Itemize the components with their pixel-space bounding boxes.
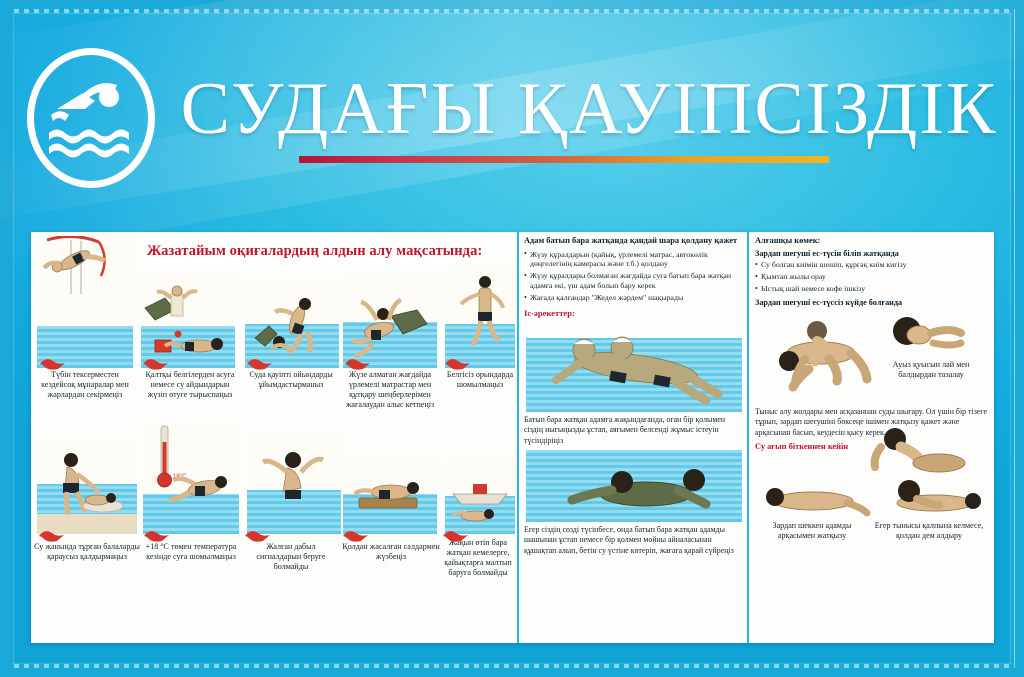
list-item: Қымтап жылы орау [755, 272, 987, 282]
swimmer-icon [27, 48, 155, 188]
first-aid-panel: Алғашқы көмек: Зардап шегуші ес-түсін бі… [749, 232, 992, 643]
prevention-image-3 [245, 280, 339, 368]
lay-on-back-icon [755, 477, 871, 517]
prevention-image-2 [141, 274, 235, 368]
prevention-image-6 [37, 440, 137, 534]
prevention-caption-2: Қалтқы белгілерден асуға немесе су айдын… [139, 369, 241, 400]
clean-mouth-icon [873, 309, 987, 359]
drowning-response-bullets: Жүзу құралдарын (қайық, үрлемелі матрас,… [524, 250, 742, 304]
rescue-approach-text: Батып бара жатқан адамға жақындағанда, о… [524, 415, 742, 446]
actions-label: Іс-әрекеттер: [524, 308, 742, 318]
prevention-image-4 [343, 274, 437, 368]
page-title: СУДАҒЫ ҚАУІПСІЗДІК [181, 72, 998, 146]
prevention-caption-5: Белгісіз орындарда шомылмаңыз [443, 369, 517, 390]
drowning-response-title: Адам батып бара жатқанда қандай шара қол… [524, 236, 742, 247]
arrow-icon [40, 357, 66, 371]
prevention-caption-3: Суда қауіпті ойындарды ұйымдастырманыз [241, 369, 341, 390]
prevention-panel: Жазатайым оқиғалардың алдын алу мақсатын… [31, 232, 519, 643]
prevention-caption-9: Қолдан жасалған салдармен жүзбеңіз [339, 541, 443, 562]
list-item: Жүзу құралдары болмаған жағдайда суға ба… [524, 271, 742, 290]
prevention-image-9 [343, 454, 437, 534]
arrow-icon [143, 357, 169, 371]
list-item: Жүзу құралдарын (қайық, үрлемелі матрас,… [524, 250, 742, 269]
arrow-icon [245, 529, 271, 543]
drowning-response-panel: Адам батып бара жатқанда қандай шара қол… [519, 232, 749, 643]
mouth-to-mouth-caption: Егер тынысы қалпына келмесе, қолдан дем … [871, 520, 987, 541]
arrow-icon [39, 529, 65, 543]
prevention-caption-6: Су жанында тұрған балаларды қараусыз қал… [33, 541, 141, 562]
arrow-icon [247, 357, 273, 371]
arrow-icon [144, 529, 170, 543]
lay-on-back-caption: Зардап шеккен адамды арқасымен жатқызу [755, 520, 869, 541]
prevention-caption-1: Түбін тексерместен кездейсоқ мұнаралар м… [33, 369, 137, 400]
arrow-icon [443, 529, 469, 543]
unconscious-subhead: Зардап шегуші ес-түссіз күйде болғанда [755, 298, 987, 307]
rescue-tow-icon [526, 450, 742, 522]
rescue-swim-assist-icon [526, 320, 742, 412]
prevention-caption-4: Жүзе алмаған жағдайда үрлемелі матрастар… [337, 369, 443, 409]
list-item: Жағада қалғандар "Жедел жәрдем" шақырады [524, 293, 742, 303]
arrow-icon [345, 357, 371, 371]
clean-mouth-caption: Ауыз қуысын лай мен балдырдан тазалау [877, 359, 985, 380]
list-item: Ыстық шай немесе кофе ішкізу [755, 284, 987, 294]
prevention-image-5 [445, 268, 515, 368]
prevention-image-8 [247, 432, 341, 534]
prevention-image-7: 18°C [143, 422, 239, 534]
prevention-caption-7: +18 °C төмен температура кезінде суға шо… [139, 541, 243, 562]
content-board: Жазатайым оқиғалардың алдын алу мақсатын… [31, 232, 994, 643]
prevention-image-1 [37, 236, 133, 368]
conscious-subhead: Зардап шегуші ес-түсін біліп жатқанда [755, 249, 987, 258]
first-aid-heading: Алғашқы көмек: [755, 236, 987, 245]
prevention-heading: Жазатайым оқиғалардың алдын алу мақсатын… [147, 243, 512, 260]
list-item: Су болған киімін шешіп, құрғақ киім кигі… [755, 260, 987, 270]
arrow-icon [343, 529, 369, 543]
mouth-to-mouth-icon [873, 477, 989, 517]
poster-root: СУДАҒЫ ҚАУІПСІЗДІК Жазатайым оқиғалардың… [0, 0, 1024, 677]
poster-header: СУДАҒЫ ҚАУІПСІЗДІК [0, 30, 1024, 205]
title-underline-rule [299, 156, 829, 163]
conscious-bullets: Су болған киімін шешіп, құрғақ киім кигі… [755, 260, 987, 294]
chest-press-icon [861, 423, 1024, 475]
prevention-caption-8: Жалған дабыл сигналдарын беруге болмайды [243, 541, 339, 572]
rescue-tow-text: Егер сіздің сөзді түсінбесе, онда батып … [524, 525, 742, 556]
drain-water-knee-icon [755, 309, 873, 405]
prevention-image-10 [445, 460, 515, 534]
arrow-icon [445, 357, 471, 371]
prevention-caption-10: Жақын өтіп бара жатқан кемелерге, қайықт… [439, 537, 517, 577]
